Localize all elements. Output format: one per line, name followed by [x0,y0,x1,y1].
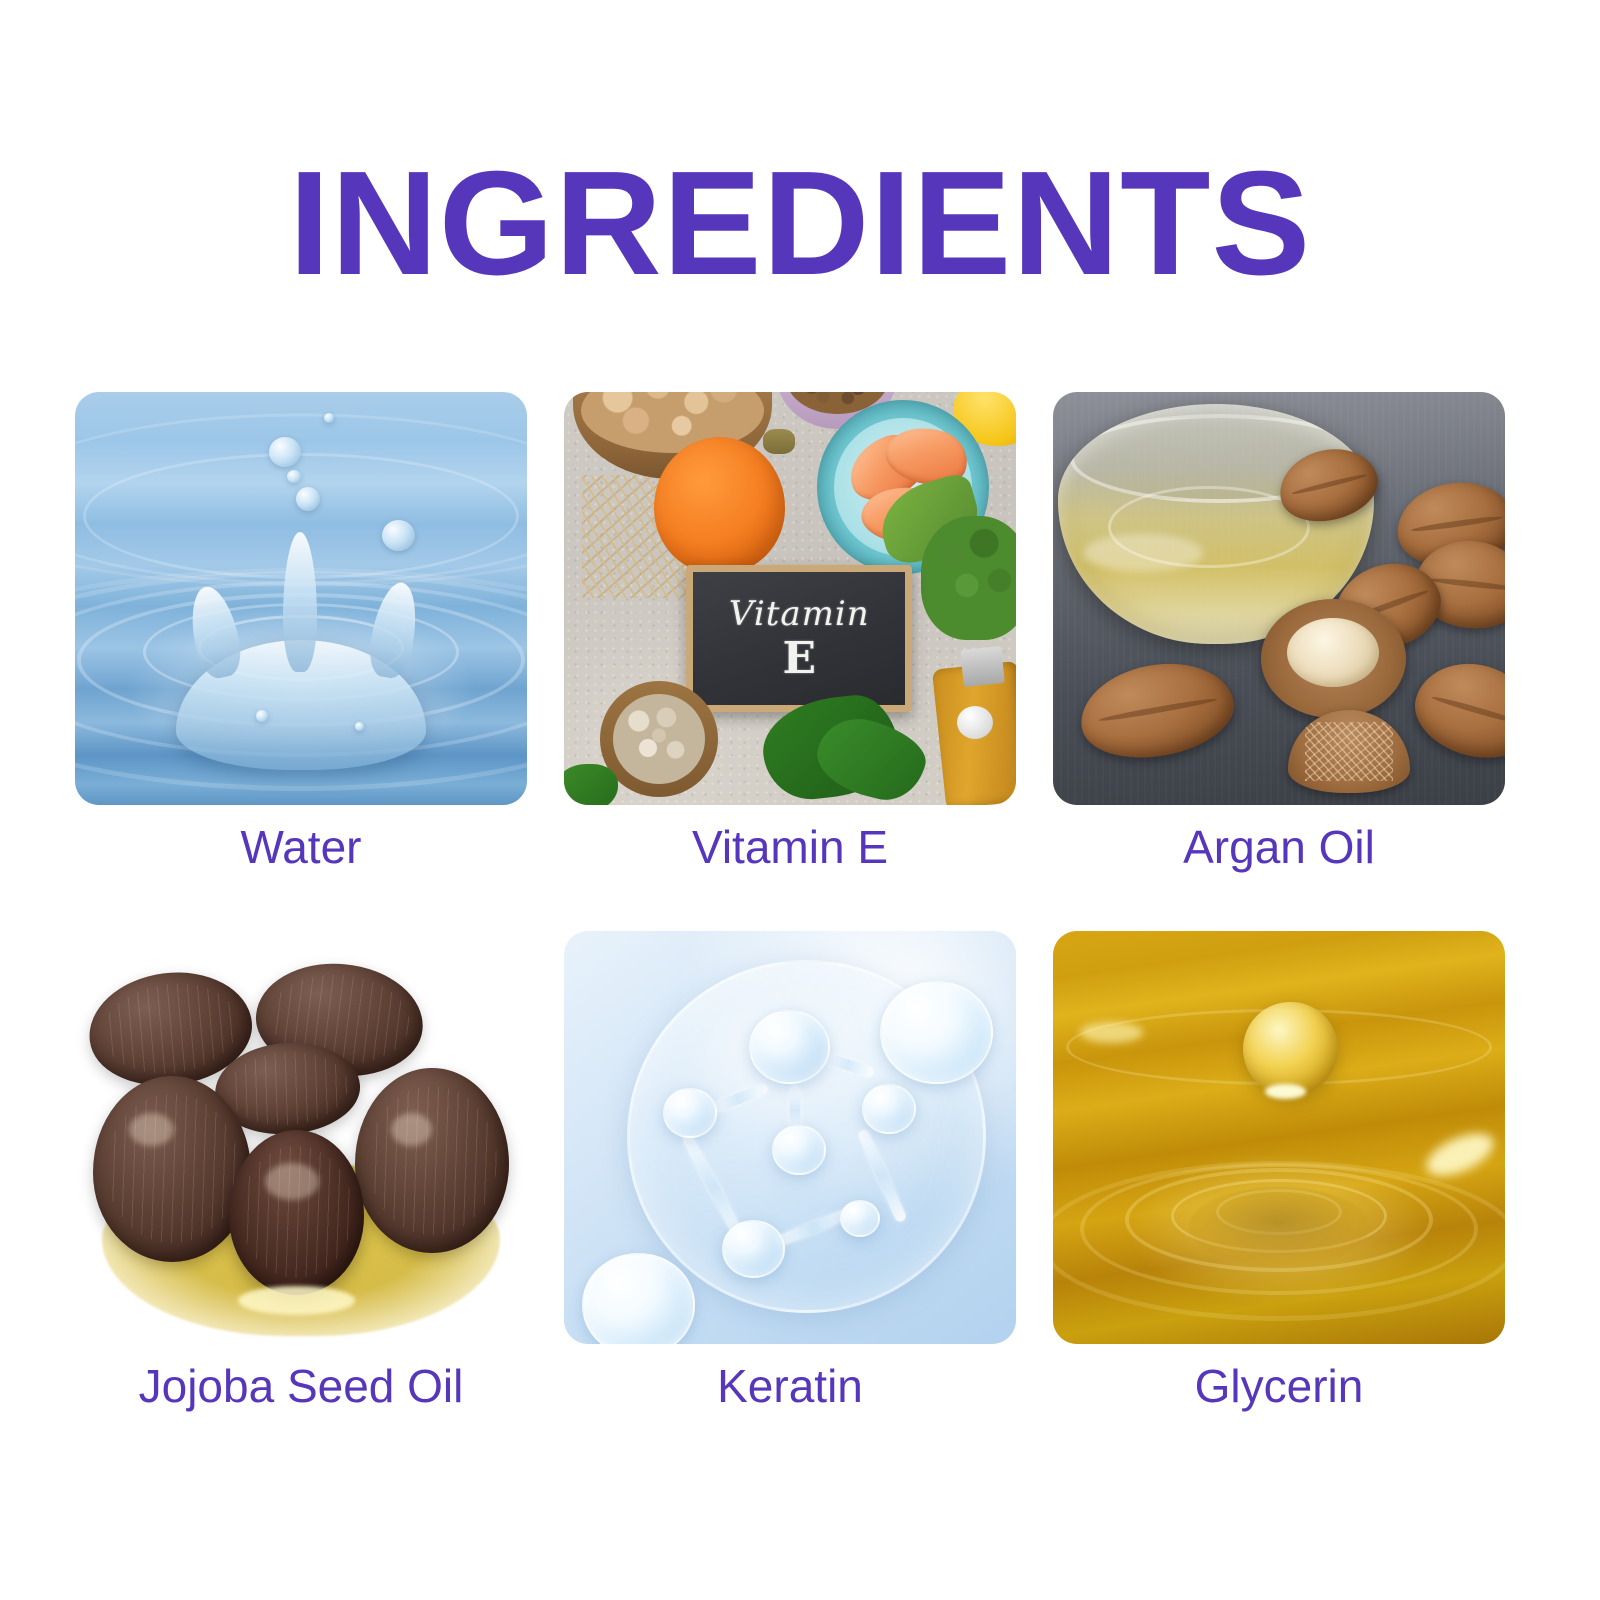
water-droplet [324,413,334,423]
argan-oil-photo [1053,392,1505,805]
vitamin-e-foods-photo: Vitamin E [564,392,1016,805]
ingredient-card-water[interactable]: Water [75,392,527,871]
molecule-atom [722,1220,785,1278]
jojoba-seed [93,1076,251,1262]
page-title: INGREDIENTS [0,150,1600,298]
chalkboard-line-1: Vitamin [729,597,870,631]
ingredients-infographic: INGREDIENTS [0,0,1600,1600]
floating-bubble [880,981,992,1084]
jojoba-seeds-photo [75,931,527,1344]
pumpkin-stem [763,429,795,454]
seed-gloss [265,1163,319,1200]
seed-gloss [391,1113,432,1146]
broccoli [921,516,1016,640]
floating-bubble [582,1253,694,1344]
glycerin-droplet [1243,1002,1338,1097]
chalkboard-sign: Vitamin E [686,565,912,711]
argan-kernel [1287,618,1380,687]
bottle-seal [957,706,993,739]
molecule-atom [862,1084,916,1133]
ingredient-label-jojoba-seed-oil: Jojoba Seed Oil [139,1362,464,1410]
keratin-molecule-photo [564,931,1016,1344]
jojoba-seed [355,1068,509,1254]
ingredient-label-glycerin: Glycerin [1195,1362,1364,1410]
green-leaf [564,764,618,805]
droplet-highlight [1265,1084,1306,1098]
jojoba-seed [229,1130,365,1295]
ingredient-label-vitamin-e: Vitamin E [692,823,888,871]
water-droplet [256,710,268,722]
molecule-atom [772,1125,826,1174]
chalkboard-line-2: E [782,637,816,681]
bottle-clamp [960,646,1004,687]
ingredient-card-argan-oil[interactable]: Argan Oil [1053,392,1505,871]
molecule-atom [840,1200,880,1237]
water-splash-photo [75,392,527,805]
ingredient-card-jojoba-seed-oil[interactable]: Jojoba Seed Oil [75,931,527,1410]
surface-glint [1080,1022,1143,1043]
ingredient-card-vitamin-e[interactable]: Vitamin E Vitamin E [564,392,1016,871]
ingredient-card-glycerin[interactable]: Glycerin [1053,931,1505,1410]
ingredient-label-water: Water [241,823,362,871]
impact-crater [1189,1187,1370,1265]
ingredient-label-argan-oil: Argan Oil [1183,823,1375,871]
ingredient-card-keratin[interactable]: Keratin [564,931,1016,1410]
ingredients-grid: Water [75,392,1527,1411]
cracked-argan-nut [1261,599,1406,719]
molecule-atom [663,1088,717,1137]
ingredient-label-keratin: Keratin [717,1362,863,1410]
pumpkin [654,437,785,573]
bowl-highlight [1083,534,1203,572]
argan-shell-fragment [1288,710,1410,793]
glycerin-droplet-photo [1053,931,1505,1344]
egg [569,565,682,660]
sunflower-seed-bowl [600,681,718,797]
molecule-atom [749,1010,830,1084]
